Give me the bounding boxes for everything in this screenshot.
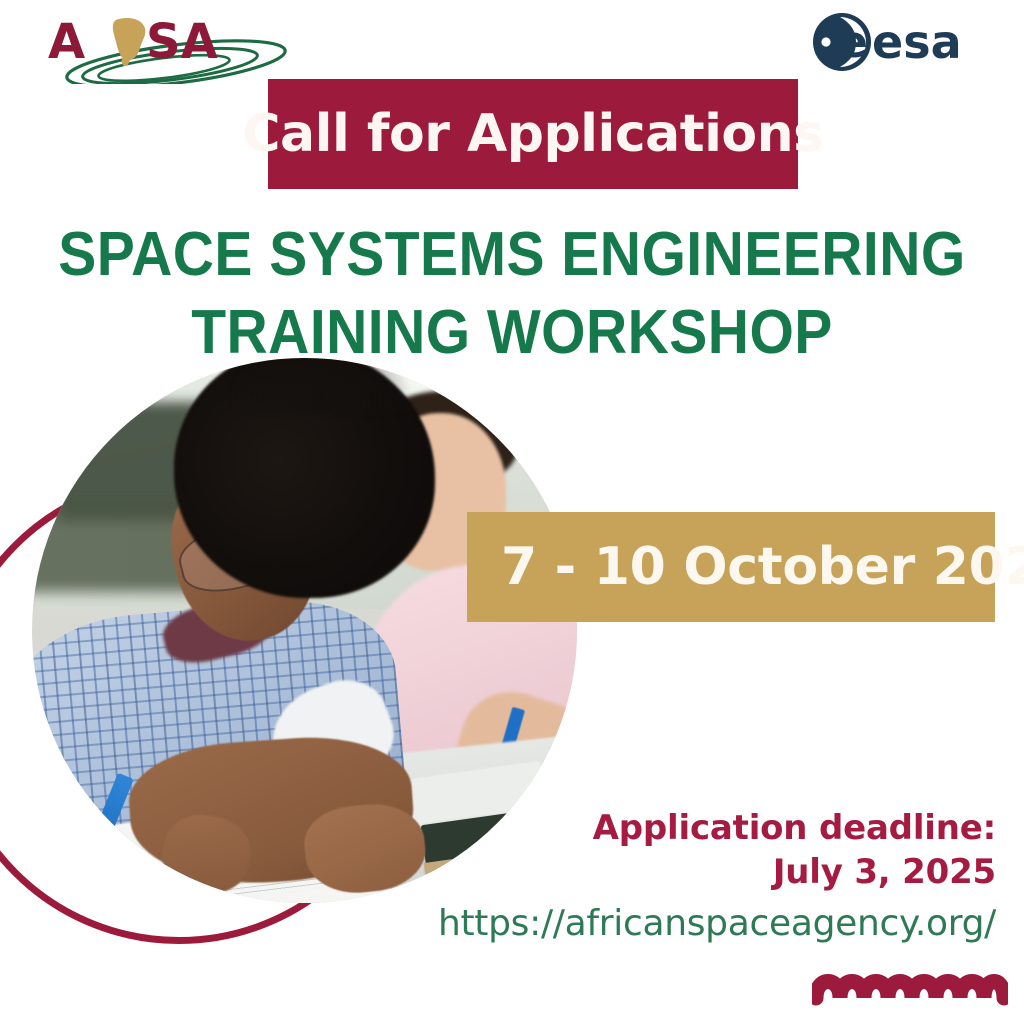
esa-wordmark: esa [872,15,962,69]
event-dates-banner: 7 - 10 October 2025 [467,512,995,622]
esa-globe-icon: e [813,13,871,71]
esa-logo[interactable]: e esa [810,10,1000,74]
svg-text:e: e [838,17,868,68]
afsa-continent-icon [113,18,146,66]
deadline-label: Application deadline: [436,806,996,850]
title-line-1: SPACE SYSTEMS ENGINEERING [41,216,983,294]
application-info: Application deadline: July 3, 2025 https… [436,806,996,949]
wave-decoration [812,958,1008,1016]
call-for-applications-banner: Call for Applications [268,79,798,189]
page-title: SPACE SYSTEMS ENGINEERING TRAINING WORKS… [0,216,1024,371]
event-dates-label: 7 - 10 October 2025 [467,537,1024,597]
svg-text:SA: SA [146,14,218,70]
afsa-logo[interactable]: A SA [44,8,294,84]
deadline-date: July 3, 2025 [436,850,996,894]
call-for-applications-label: Call for Applications [242,108,823,160]
svg-text:A: A [48,14,85,70]
application-url[interactable]: https://africanspaceagency.org/ [436,900,996,949]
poster-canvas: A SA e esa Call for Applications SPACE S… [0,0,1024,1024]
